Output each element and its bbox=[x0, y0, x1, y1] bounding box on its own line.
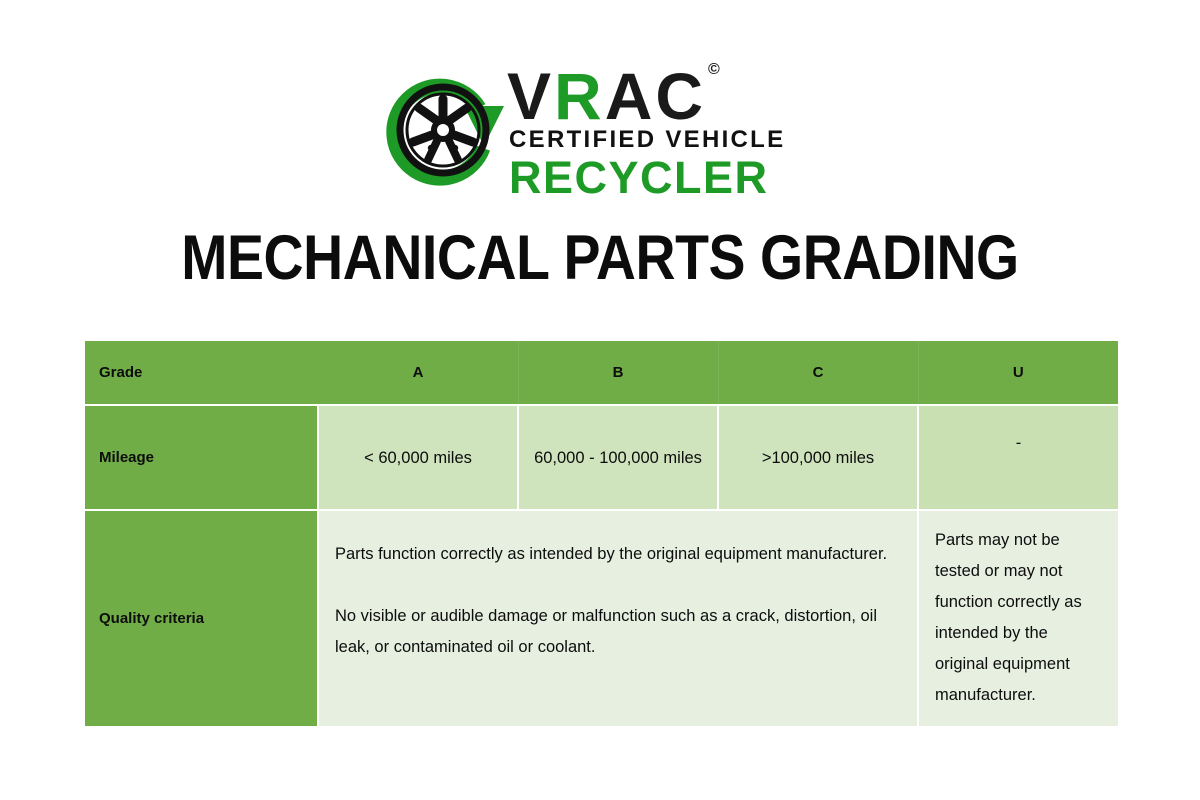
logo-wordmark: VRAC© CERTIFIED VEHICLE RECYCLER bbox=[507, 55, 837, 205]
mechanical-parts-grading-table: Grade A B C U Mileage < 60,000 miles 60,… bbox=[85, 341, 1118, 726]
copyright-icon: © bbox=[708, 61, 720, 78]
grading-document-page: VRAC© CERTIFIED VEHICLE RECYCLER MECHANI… bbox=[0, 0, 1200, 800]
logo-tagline: CERTIFIED VEHICLE bbox=[509, 128, 785, 152]
vrac-logo: VRAC© CERTIFIED VEHICLE RECYCLER bbox=[373, 55, 833, 205]
cell-mileage-u: - bbox=[918, 405, 1118, 510]
table-header-row: Grade A B C U bbox=[85, 341, 1118, 405]
logo-letter-r: R bbox=[554, 59, 605, 133]
logo-letters-ac: AC bbox=[605, 59, 706, 133]
cell-quality-u: Parts may not be tested or may not funct… bbox=[918, 510, 1118, 726]
table-row-mileage: Mileage < 60,000 miles 60,000 - 100,000 … bbox=[85, 405, 1118, 510]
cell-mileage-a: < 60,000 miles bbox=[318, 405, 518, 510]
column-header-u: U bbox=[918, 341, 1118, 405]
page-title: MECHANICAL PARTS GRADING bbox=[72, 222, 1128, 294]
quality-paragraph-2: No visible or audible damage or malfunct… bbox=[335, 601, 901, 663]
column-header-grade: Grade bbox=[85, 341, 318, 405]
column-header-b: B bbox=[518, 341, 718, 405]
logo-recycler-text: RECYCLER bbox=[509, 155, 769, 200]
table-row-quality-criteria: Quality criteria Parts function correctl… bbox=[85, 510, 1118, 726]
circular-arrow-wheel-icon bbox=[373, 60, 513, 200]
logo-letter-v: V bbox=[507, 59, 554, 133]
row-label-mileage: Mileage bbox=[85, 405, 318, 510]
logo-vrac-text: VRAC© bbox=[507, 59, 718, 129]
column-header-c: C bbox=[718, 341, 918, 405]
quality-paragraph-1: Parts function correctly as intended by … bbox=[335, 539, 901, 570]
cell-quality-abc: Parts function correctly as intended by … bbox=[318, 510, 918, 726]
column-header-a: A bbox=[318, 341, 518, 405]
cell-mileage-c: >100,000 miles bbox=[718, 405, 918, 510]
row-label-quality-criteria: Quality criteria bbox=[85, 510, 318, 726]
cell-mileage-b: 60,000 - 100,000 miles bbox=[518, 405, 718, 510]
